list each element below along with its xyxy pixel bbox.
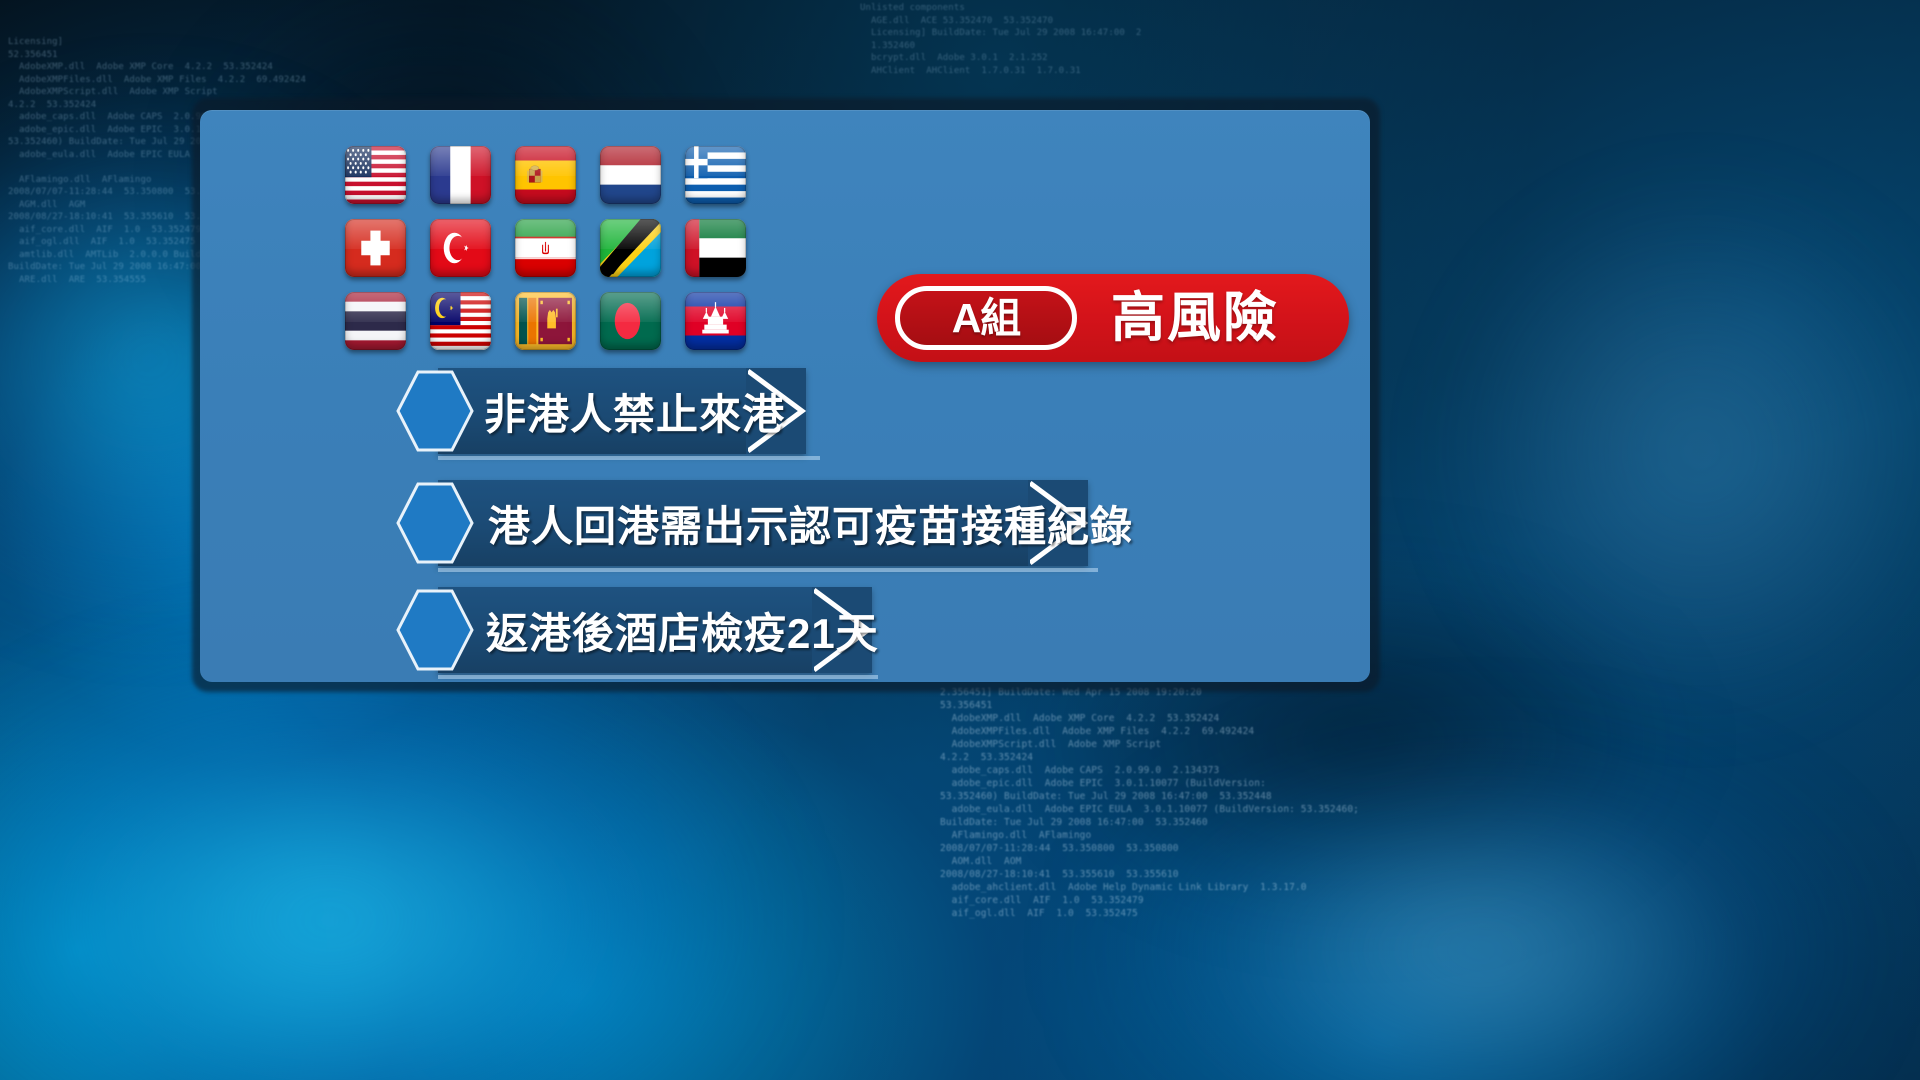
rule-row: 返港後酒店檢疫21天 bbox=[396, 587, 932, 673]
flag-kh bbox=[685, 292, 746, 350]
flag-us bbox=[345, 146, 406, 204]
flag-tz bbox=[600, 219, 661, 277]
flag-nl bbox=[600, 146, 661, 204]
flag-th bbox=[345, 292, 406, 350]
hexagon-bullet-icon bbox=[396, 370, 474, 452]
rule-row: 港人回港需出示認可疫苗接種紀錄 bbox=[396, 480, 1148, 566]
rule-underline bbox=[438, 568, 1098, 572]
rule-underline bbox=[438, 456, 820, 460]
risk-group-label: A組 bbox=[952, 298, 1021, 339]
flag-bd bbox=[600, 292, 661, 350]
flag-my bbox=[430, 292, 491, 350]
rule-label: 港人回港需出示認可疫苗接種紀錄 bbox=[488, 480, 1133, 566]
flag-gr bbox=[685, 146, 746, 204]
risk-level-label: 高風險 bbox=[1111, 291, 1279, 345]
rule-label: 非港人禁止來港 bbox=[484, 368, 785, 454]
flag-ir bbox=[515, 219, 576, 277]
risk-group-pill: A組 bbox=[895, 286, 1077, 350]
rule-underline bbox=[438, 675, 878, 679]
flag-fr bbox=[430, 146, 491, 204]
hexagon-bullet-icon bbox=[396, 589, 474, 671]
flag-tr bbox=[430, 219, 491, 277]
content-panel: A組 高風險 非港人禁止來港 bbox=[200, 110, 1370, 682]
background-glow-lower-left bbox=[0, 640, 780, 1080]
hexagon-bullet-icon bbox=[396, 482, 474, 564]
broadcast-graphic: Licensing] 52.356451 AdobeXMP.dll Adobe … bbox=[0, 0, 1920, 1080]
rule-label: 返港後酒店檢疫21天 bbox=[486, 587, 879, 673]
background-glow-lower-right bbox=[1100, 740, 1860, 1080]
flag-ae bbox=[685, 219, 746, 277]
background-glow-right bbox=[1440, 180, 1920, 720]
risk-banner: A組 高風險 bbox=[877, 274, 1349, 362]
flag-ch bbox=[345, 219, 406, 277]
flag-es bbox=[515, 146, 576, 204]
flag-lk bbox=[515, 292, 576, 350]
flag-grid bbox=[345, 146, 755, 358]
rule-row: 非港人禁止來港 bbox=[396, 368, 866, 454]
